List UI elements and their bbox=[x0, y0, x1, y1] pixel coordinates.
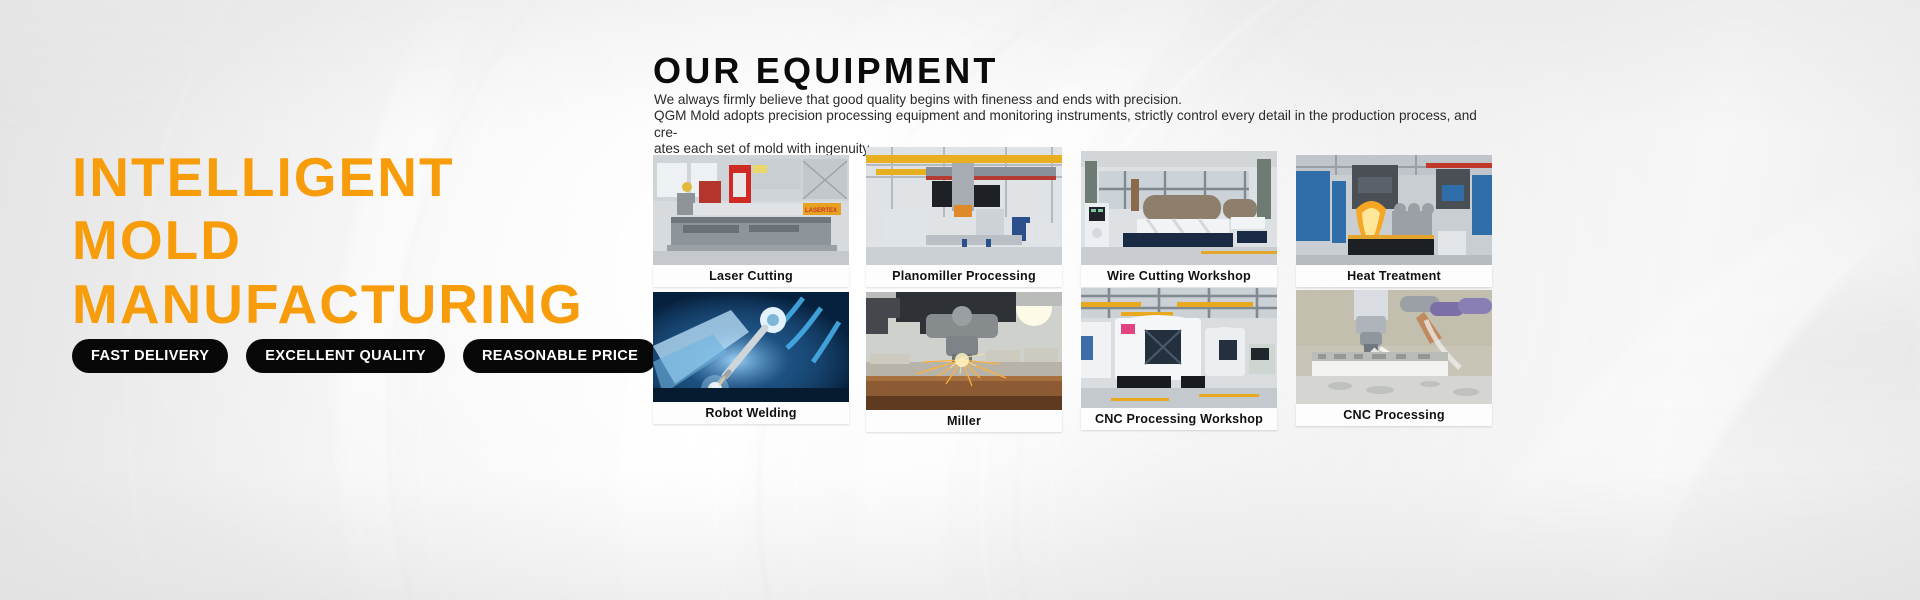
miller-sparks-photo bbox=[866, 292, 1062, 410]
tile-caption: Laser Cutting bbox=[653, 265, 849, 287]
hero-panel: INTELLIGENT MOLD MANUFACTURING FAST DELI… bbox=[0, 0, 640, 600]
tile-caption: Heat Treatment bbox=[1296, 265, 1492, 287]
wire-cutting-workshop-photo bbox=[1081, 151, 1277, 265]
equipment-row-top: LASERTEX Laser Cutting bbox=[653, 155, 1903, 286]
badge-fast-delivery[interactable]: FAST DELIVERY bbox=[72, 339, 228, 373]
equipment-tile-cnc-processing-workshop[interactable]: CNC Processing Workshop bbox=[1081, 288, 1277, 423]
hero-headline: INTELLIGENT MOLD MANUFACTURING bbox=[72, 146, 632, 336]
equipment-tile-laser-cutting[interactable]: LASERTEX Laser Cutting bbox=[653, 155, 849, 286]
cnc-processing-workshop-photo bbox=[1081, 288, 1277, 408]
equipment-tile-miller[interactable]: Miller bbox=[866, 292, 1062, 423]
badge-excellent-quality[interactable]: EXCELLENT QUALITY bbox=[246, 339, 445, 373]
tile-caption: Planomiller Processing bbox=[866, 265, 1062, 287]
tile-caption: CNC Processing Workshop bbox=[1081, 408, 1277, 430]
badge-reasonable-price[interactable]: REASONABLE PRICE bbox=[463, 339, 657, 373]
cnc-processing-coolant-photo bbox=[1296, 290, 1492, 404]
equipment-tile-wire-cutting-workshop[interactable]: Wire Cutting Workshop bbox=[1081, 151, 1277, 286]
laser-cutting-machine-photo: LASERTEX bbox=[653, 155, 849, 265]
equipment-panel: OUR EQUIPMENT We always firmly believe t… bbox=[653, 0, 1920, 600]
equipment-tile-heat-treatment[interactable]: Heat Treatment bbox=[1296, 155, 1492, 286]
tile-caption: Miller bbox=[866, 410, 1062, 432]
equipment-row-bottom: Robot Welding bbox=[653, 292, 1903, 423]
equipment-tile-grid: LASERTEX Laser Cutting bbox=[653, 155, 1903, 423]
heat-treatment-furnace-photo bbox=[1296, 155, 1492, 265]
svg-text:LASERTEX: LASERTEX bbox=[805, 208, 837, 214]
tile-caption: Robot Welding bbox=[653, 402, 849, 424]
equipment-tile-robot-welding[interactable]: Robot Welding bbox=[653, 292, 849, 423]
equipment-tile-planomiller-processing[interactable]: Planomiller Processing bbox=[866, 147, 1062, 286]
equipment-tile-cnc-processing[interactable]: CNC Processing bbox=[1296, 290, 1492, 423]
planomiller-gantry-mill-photo bbox=[866, 147, 1062, 265]
tile-caption: CNC Processing bbox=[1296, 404, 1492, 426]
equipment-section-title: OUR EQUIPMENT bbox=[653, 50, 999, 92]
equipment-description: We always firmly believe that good quali… bbox=[654, 92, 1482, 157]
tile-caption: Wire Cutting Workshop bbox=[1081, 265, 1277, 287]
hero-badge-list: FAST DELIVERY EXCELLENT QUALITY REASONAB… bbox=[72, 339, 657, 373]
robot-welding-arc-photo bbox=[653, 292, 849, 402]
